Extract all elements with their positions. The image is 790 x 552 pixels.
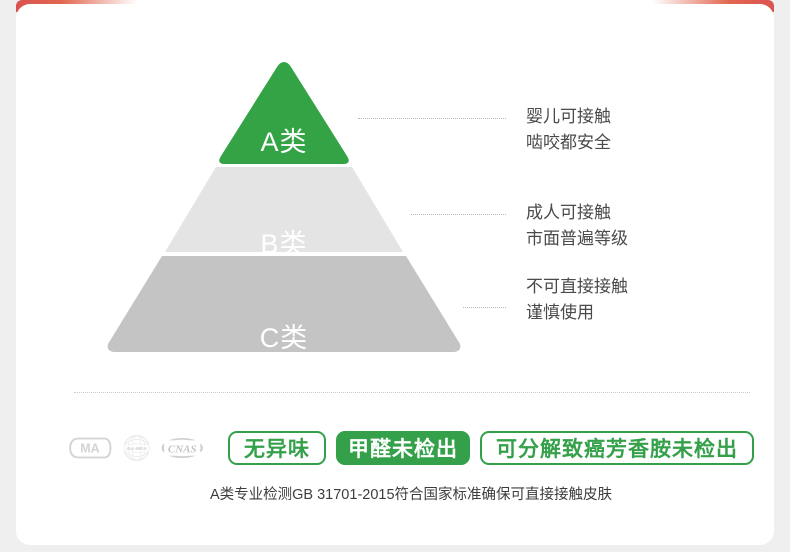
standard-caption: A类专业检测GB 31701-2015符合国家标准确保可直接接触皮肤	[16, 483, 790, 504]
tier-a-description-line2: 啮咬都安全	[526, 130, 611, 156]
cnas-logo-text: CNAS	[168, 443, 197, 455]
pyramid-tier-c-label: C类	[94, 316, 474, 355]
connector-line-c	[463, 307, 506, 309]
no-odor-badge: 无异味	[228, 431, 326, 465]
pyramid-shapes	[94, 44, 474, 354]
tier-b-description-line1: 成人可接触	[526, 200, 628, 226]
cma-logo-text: MA	[80, 441, 99, 455]
safety-grade-pyramid: A类 B类 C类	[94, 44, 474, 354]
pyramid-tier-a-label: A类	[94, 120, 474, 159]
formaldehyde-badge: 甲醛未检出	[336, 431, 470, 465]
content-card: A类 B类 C类 婴儿可接触 啮咬都安全 成人可接触 市面普遍等级 不可直接接触…	[16, 4, 774, 545]
cnas-logo: CNAS	[161, 433, 203, 463]
pyramid-tier-b-label: B类	[94, 222, 474, 261]
tier-a-description-line1: 婴儿可接触	[526, 104, 611, 130]
connector-line-a	[358, 118, 506, 120]
ilac-mra-logo-text: ilac-MRA	[126, 446, 147, 452]
tier-a-description: 婴儿可接触 啮咬都安全	[526, 104, 611, 156]
connector-line-b	[411, 214, 506, 216]
ilac-mra-logo: ilac-MRA	[122, 429, 151, 467]
tier-c-description: 不可直接接触 谨慎使用	[526, 274, 628, 326]
certification-row: MA ilac-MRA CNAS 无异味 甲醛未检出	[68, 424, 754, 472]
product-detail-panel: A类 B类 C类 婴儿可接触 啮咬都安全 成人可接触 市面普遍等级 不可直接接触…	[0, 0, 790, 552]
tier-b-description-line2: 市面普遍等级	[526, 226, 628, 252]
tier-c-description-line2: 谨慎使用	[526, 300, 628, 326]
section-divider	[74, 392, 750, 393]
cma-logo: MA	[68, 433, 112, 463]
aromatic-amine-badge: 可分解致癌芳香胺未检出	[480, 431, 754, 465]
tier-c-description-line1: 不可直接接触	[526, 274, 628, 300]
tier-b-description: 成人可接触 市面普遍等级	[526, 200, 628, 252]
